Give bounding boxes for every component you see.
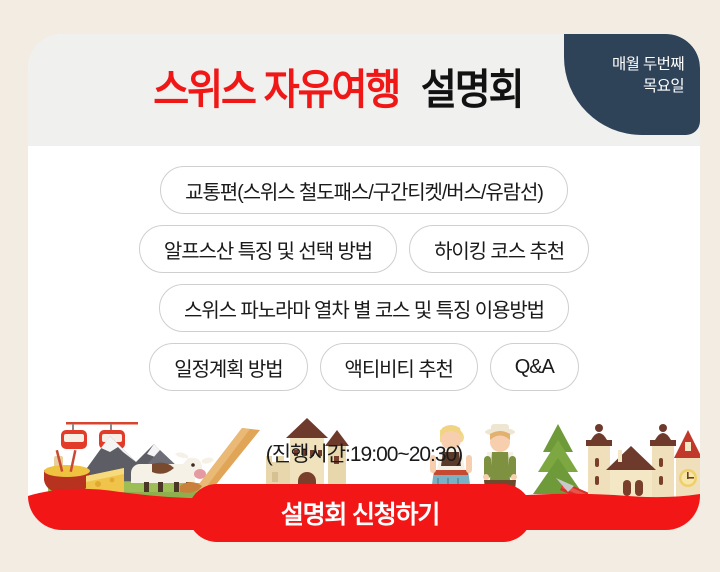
- topic-list: 교통편(스위스 철도패스/구간티켓/버스/유람선) 알프스산 특징 및 선택 방…: [28, 146, 700, 391]
- topic-pill[interactable]: 스위스 파노라마 열차 별 코스 및 특징 이용방법: [159, 284, 569, 332]
- topic-row: 알프스산 특징 및 선택 방법 하이킹 코스 추천: [139, 225, 589, 273]
- topic-pill[interactable]: 교통편(스위스 철도패스/구간티켓/버스/유람선): [160, 166, 568, 214]
- title-red-text: 스위스 자유여행: [153, 69, 399, 111]
- topic-row: 스위스 파노라마 열차 별 코스 및 특징 이용방법: [159, 284, 569, 332]
- topic-row: 교통편(스위스 철도패스/구간티켓/버스/유람선): [160, 166, 568, 214]
- title-dark-text: 설명회: [421, 69, 523, 111]
- topic-row: 일정계획 방법 액티비티 추천 Q&A: [149, 343, 578, 391]
- promo-card: 스위스 자유여행 설명회 매월 두번째 목요일 교통편(스위스 철도패스/구간티…: [28, 34, 700, 530]
- topic-pill[interactable]: 하이킹 코스 추천: [409, 225, 589, 273]
- topic-pill[interactable]: 액티비티 추천: [320, 343, 478, 391]
- badge-line-1: 매월 두번째: [564, 54, 684, 76]
- topic-pill[interactable]: 알프스산 특징 및 선택 방법: [139, 225, 397, 273]
- session-time-note: (진행시간:19:00~20:30): [28, 438, 700, 468]
- topic-pill[interactable]: 일정계획 방법: [149, 343, 307, 391]
- topic-pill[interactable]: Q&A: [490, 343, 579, 391]
- badge-line-2: 목요일: [564, 76, 684, 98]
- card-header: 스위스 자유여행 설명회 매월 두번째 목요일: [28, 34, 700, 146]
- apply-button[interactable]: 설명회 신청하기: [188, 484, 532, 542]
